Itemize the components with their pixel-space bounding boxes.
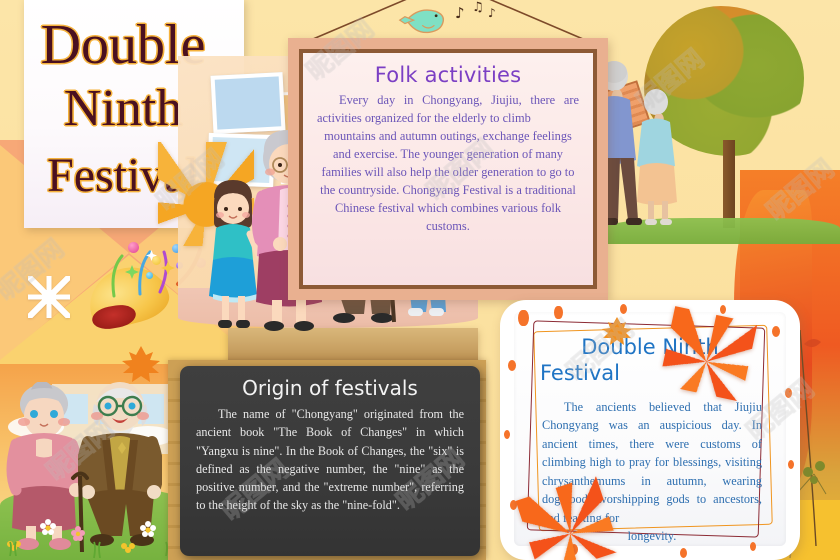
origin-of-festivals-panel: Origin of festivals The name of "Chongya… [180,366,480,556]
music-note-3: ♪ [488,6,496,20]
card-dot [785,388,792,398]
card-dot [750,542,756,551]
card-dot [554,306,563,319]
origin-title: Origin of festivals [196,376,464,400]
card-dot [680,548,687,558]
double-ninth-festival-card: Double Ninth Festival The ancients belie… [500,300,800,560]
folk-activities-body: Every day in Chongyang, Jiujiu, there ar… [317,92,579,236]
bird-icon [398,6,450,36]
card-dot [508,360,516,371]
picture-frame-a [211,72,286,134]
music-note-2: ♫ [472,0,484,15]
card-dot [518,310,529,326]
ground-flowers [0,500,186,560]
poster-canvas: ♪ ♫ ♪ Double Ninth Festival [0,0,840,560]
folk-body-justified: Every day in Chongyang, Jiujiu, there ar… [317,93,579,125]
maple-leaf-icon [600,316,634,346]
card-dot [772,326,780,337]
maple-leaf-icon [659,306,758,402]
music-note-1: ♪ [455,4,465,22]
folk-body-centered: mountains and autumn outings, exchange f… [317,128,579,236]
grandparents-outdoor-scene [0,364,186,560]
white-flower-icon [28,276,70,318]
card-dot [788,460,794,469]
card-dot [620,304,627,314]
origin-body: The name of "Chongyang" originated from … [196,405,464,515]
folk-activities-board: Folk activities Every day in Chongyang, … [288,38,608,300]
folk-board-inner: Folk activities Every day in Chongyang, … [299,49,597,289]
card-dot [720,305,726,314]
card-dot [504,430,510,439]
folk-activities-title: Folk activities [317,63,579,87]
maple-leaf-icon [118,344,164,384]
